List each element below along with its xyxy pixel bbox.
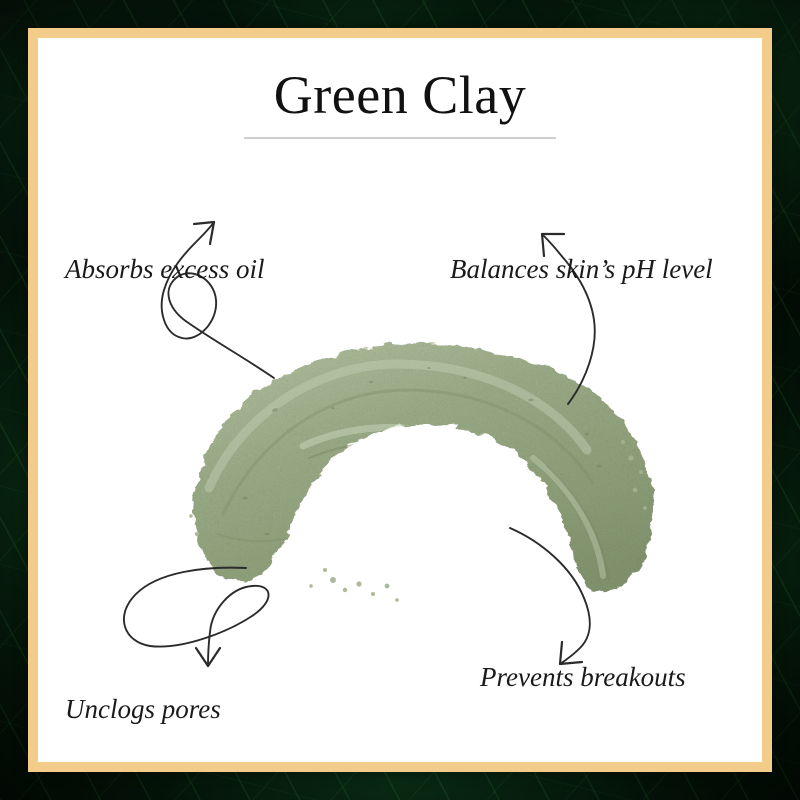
infographic-canvas: Green Clay [0,0,800,800]
feature-label-absorbs-excess-oil: Absorbs excess oil [65,256,264,283]
white-card: Green Clay [38,38,762,762]
green-clay-smear [183,338,663,608]
card-frame: Green Clay [28,28,772,772]
title-underline-rule [244,137,556,139]
feature-label-prevents-breakouts: Prevents breakouts [480,664,686,691]
feature-label-unclogs-pores: Unclogs pores [65,696,221,723]
title-block: Green Clay [38,68,762,139]
feature-label-balances-ph-level: Balances skin’s pH level [450,256,713,283]
page-title: Green Clay [38,68,762,122]
